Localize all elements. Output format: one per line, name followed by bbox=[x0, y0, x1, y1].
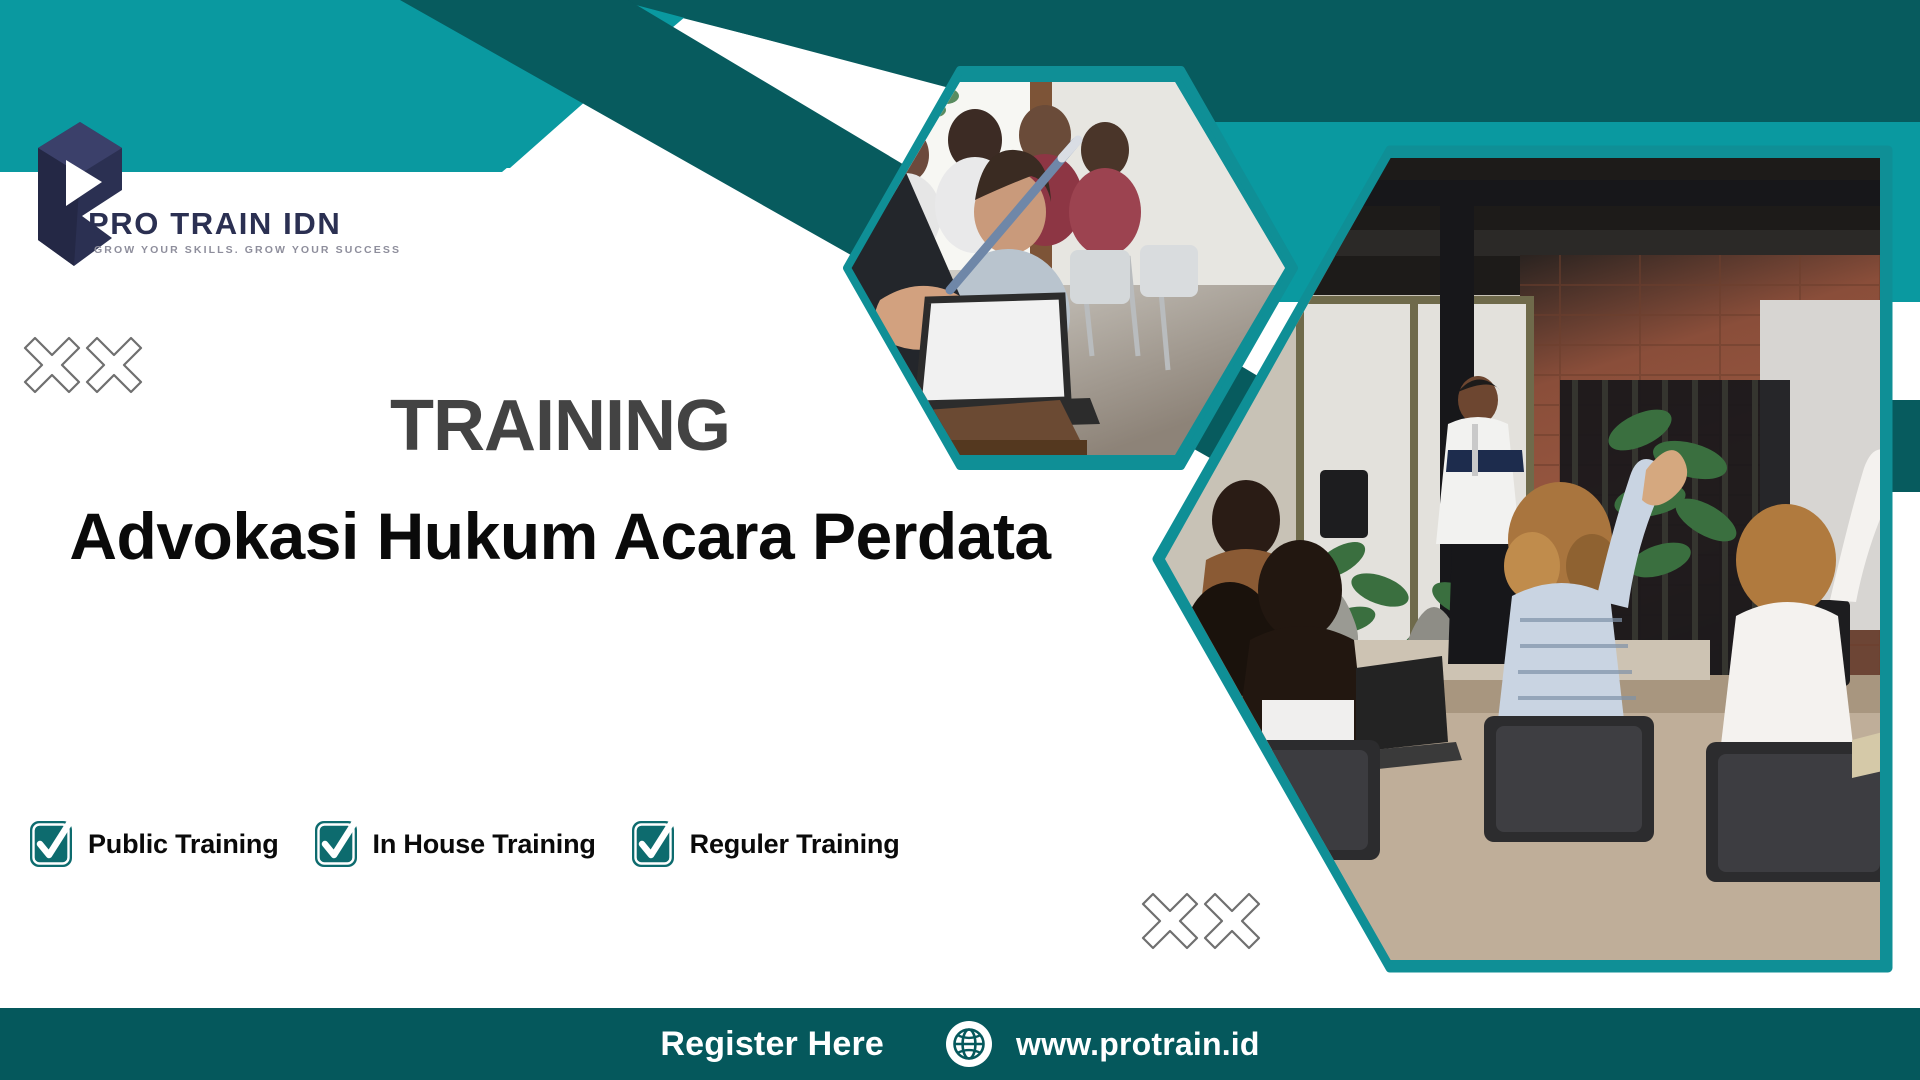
poster-canvas: PRO TRAIN IDN GROW YOUR SKILLS. GROW YOU… bbox=[0, 0, 1920, 1080]
kicker-training: TRAINING bbox=[60, 390, 1060, 462]
page-title: Advokasi Hukum Acara Perdata bbox=[60, 498, 1060, 576]
list-item[interactable]: Public Training bbox=[28, 818, 279, 870]
check-box-icon[interactable] bbox=[630, 818, 676, 870]
list-item[interactable]: Reguler Training bbox=[630, 818, 900, 870]
training-type-list: Public Training In House Training Re bbox=[28, 818, 900, 870]
brand-tagline: GROW YOUR SKILLS. GROW YOUR SUCCESS bbox=[94, 244, 401, 256]
list-item-label: Public Training bbox=[88, 829, 279, 860]
list-item[interactable]: In House Training bbox=[313, 818, 596, 870]
list-item-label: In House Training bbox=[373, 829, 596, 860]
brand-name: PRO TRAIN IDN bbox=[88, 206, 341, 242]
globe-icon bbox=[946, 1021, 992, 1067]
website-link[interactable]: www.protrain.id bbox=[946, 1021, 1260, 1067]
register-here-cta[interactable]: Register Here bbox=[660, 1025, 884, 1064]
x-marks-decoration-right bbox=[1140, 886, 1270, 964]
headline-block: TRAINING Advokasi Hukum Acara Perdata bbox=[60, 390, 1060, 576]
check-box-icon[interactable] bbox=[313, 818, 359, 870]
website-url: www.protrain.id bbox=[1016, 1026, 1260, 1063]
list-item-label: Reguler Training bbox=[690, 829, 900, 860]
brand-logo: PRO TRAIN IDN GROW YOUR SKILLS. GROW YOU… bbox=[30, 120, 370, 290]
footer-bar: Register Here www.protrain.id bbox=[0, 1008, 1920, 1080]
check-box-icon[interactable] bbox=[28, 818, 74, 870]
